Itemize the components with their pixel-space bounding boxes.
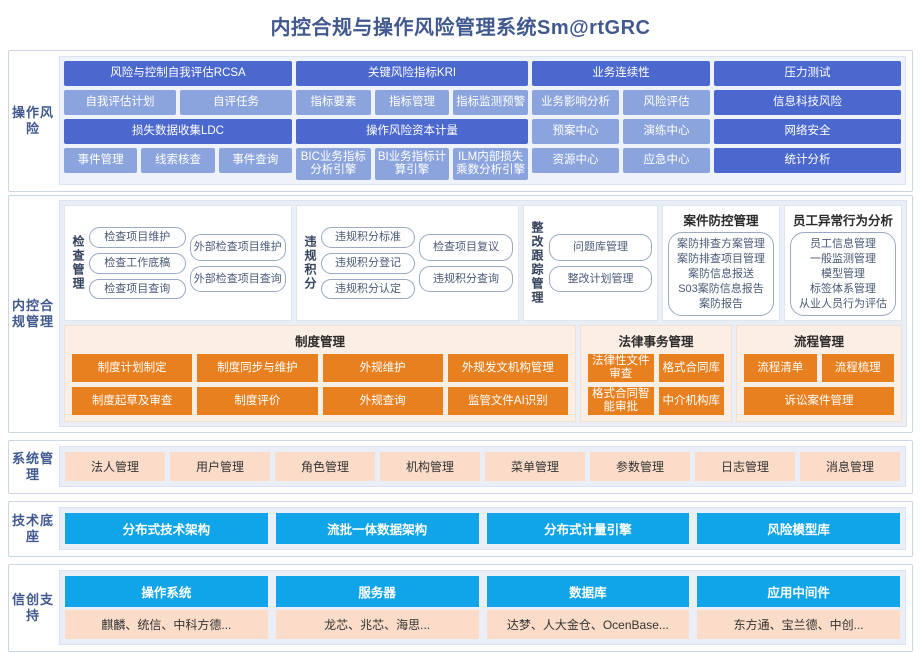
pill-external-inspection-query[interactable]: 外部检查项目查询	[190, 266, 287, 293]
item-s03-case-report: S03案防信息报告	[678, 282, 764, 296]
item-case-project-management: 案防排查项目管理	[677, 252, 765, 266]
btn-org-management[interactable]: 机构管理	[380, 452, 480, 481]
band-label-operation-risk: 操作风险	[9, 51, 57, 191]
btn-regulatory-doc-ai-recognition[interactable]: 监管文件AI识别	[448, 387, 568, 415]
btn-external-issuing-org-management[interactable]: 外规发文机构管理	[448, 354, 568, 382]
module-ilm-engine[interactable]: ILM内部损失乘数分析引擎	[453, 148, 528, 180]
btn-stream-batch-data-architecture[interactable]: 流批一体数据架构	[276, 513, 479, 544]
btn-distributed-tech-architecture[interactable]: 分布式技术架构	[65, 513, 268, 544]
module-indicator-monitoring-alert[interactable]: 指标监测预警	[453, 90, 528, 115]
band-body-xinchuang-support: 操作系统 麒麟、统信、中科方德... 服务器 龙芯、兆芯、海思... 数据库 达…	[57, 565, 912, 651]
btn-message-management[interactable]: 消息管理	[800, 452, 900, 481]
band-label-internal-control-compliance: 内控合规管理	[9, 196, 57, 432]
employee-behavior-items[interactable]: 员工信息管理 一般监测管理 模型管理 标签体系管理 从业人员行为评估	[790, 232, 896, 316]
panel-legal-affairs: 法律事务管理 法律性文件审查 格式合同智能审批 格式合同库 中介机构库	[580, 325, 732, 422]
btn-policy-sync-maintain[interactable]: 制度同步与维护	[197, 354, 317, 382]
case-prevention-items[interactable]: 案防排查方案管理 案防排查项目管理 案防信息报送 S03案防信息报告 案防报告	[668, 232, 774, 316]
xc-title-server[interactable]: 服务器	[276, 576, 479, 607]
item-tag-system-management: 标签体系管理	[810, 282, 876, 296]
xc-title-database[interactable]: 数据库	[487, 576, 690, 607]
band-label-system-management: 系统管理	[9, 441, 57, 493]
module-rcsa[interactable]: 风险与控制自我评估RCSA	[64, 61, 292, 86]
btn-log-management[interactable]: 日志管理	[695, 452, 795, 481]
btn-policy-draft-review[interactable]: 制度起草及审查	[72, 387, 192, 415]
module-risk-assessment[interactable]: 风险评估	[623, 90, 710, 115]
xc-group-server: 服务器 龙芯、兆芯、海思...	[276, 576, 479, 639]
xc-title-os[interactable]: 操作系统	[65, 576, 268, 607]
module-network-security[interactable]: 网络安全	[714, 119, 901, 144]
xc-group-middleware: 应用中间件 东方通、宝兰德、中创...	[697, 576, 900, 639]
column-bcm: 业务连续性 业务影响分析 风险评估 预案中心 演练中心 资源中心 应急中心	[532, 61, 710, 180]
pill-rectification-plan-management[interactable]: 整改计划管理	[549, 266, 652, 293]
btn-user-management[interactable]: 用户管理	[170, 452, 270, 481]
card-inspection-title: 检查管理	[70, 210, 86, 316]
pill-inspection-item-maintenance[interactable]: 检查项目维护	[89, 227, 186, 248]
xc-vendors-database: 达梦、人大金仓、OcenBase...	[487, 610, 690, 639]
column-other-risk: 压力测试 信息科技风险 网络安全 统计分析	[714, 61, 901, 180]
module-statistical-analysis[interactable]: 统计分析	[714, 148, 901, 173]
btn-external-rule-query[interactable]: 外规查询	[323, 387, 443, 415]
band-body-internal-control-compliance: 检查管理 检查项目维护 检查工作底稿 检查项目查询 外部检查项目维护 外部检查项…	[57, 196, 912, 432]
module-self-assessment-plan[interactable]: 自我评估计划	[64, 90, 176, 115]
module-drill-center[interactable]: 演练中心	[623, 119, 710, 144]
module-operational-risk-capital[interactable]: 操作风险资本计量	[296, 119, 528, 144]
pill-violation-confirmation[interactable]: 违规积分认定	[321, 279, 415, 300]
item-employee-info-management: 员工信息管理	[810, 237, 876, 251]
module-bi-engine[interactable]: BI业务指标计算引擎	[375, 148, 450, 180]
band-tech-foundation: 技术底座 分布式技术架构 流批一体数据架构 分布式计量引擎 风险模型库	[8, 501, 913, 557]
band-label-tech-foundation: 技术底座	[9, 502, 57, 556]
process-management-title: 流程管理	[744, 331, 894, 350]
card-violation-points: 违规积分 违规积分标准 违规积分登记 违规积分认定 检查项目复议 违规积分查询	[296, 205, 519, 321]
module-self-assessment-task[interactable]: 自评任务	[180, 90, 292, 115]
module-event-query[interactable]: 事件查询	[219, 148, 292, 173]
btn-external-rule-maintenance[interactable]: 外规维护	[323, 354, 443, 382]
btn-legal-doc-review[interactable]: 法律性文件审查	[588, 354, 654, 382]
card-employee-behavior: 员工异常行为分析 员工信息管理 一般监测管理 模型管理 标签体系管理 从业人员行…	[784, 205, 902, 321]
band-internal-control-compliance: 内控合规管理 检查管理 检查项目维护 检查工作底稿 检查项目查询 外部检查项目维…	[8, 195, 913, 433]
case-prevention-title: 案件防控管理	[668, 210, 774, 229]
band-system-management: 系统管理 法人管理 用户管理 角色管理 机构管理 菜单管理 参数管理 日志管理 …	[8, 440, 913, 494]
compliance-bottom-row: 制度管理 制度计划制定 制度起草及审查 制度同步与维护 制度评价	[64, 325, 902, 422]
module-indicator-management[interactable]: 指标管理	[375, 90, 450, 115]
btn-menu-management[interactable]: 菜单管理	[485, 452, 585, 481]
compliance-top-row: 检查管理 检查项目维护 检查工作底稿 检查项目查询 外部检查项目维护 外部检查项…	[64, 205, 902, 321]
card-rectification-tracking: 整改跟踪管理 问题库管理 整改计划管理	[523, 205, 658, 321]
btn-process-list[interactable]: 流程清单	[744, 354, 817, 382]
column-kri: 关键风险指标KRI 指标要素 指标管理 指标监测预警 操作风险资本计量 BIC业…	[296, 61, 528, 180]
card-case-prevention: 案件防控管理 案防排查方案管理 案防排查项目管理 案防信息报送 S03案防信息报…	[662, 205, 780, 321]
module-it-risk[interactable]: 信息科技风险	[714, 90, 901, 115]
btn-role-management[interactable]: 角色管理	[275, 452, 375, 481]
xc-vendors-os: 麒麟、统信、中科方德...	[65, 610, 268, 639]
module-stress-test[interactable]: 压力测试	[714, 61, 901, 86]
module-clue-verification[interactable]: 线索核查	[141, 148, 214, 173]
xc-group-os: 操作系统 麒麟、统信、中科方德...	[65, 576, 268, 639]
pill-issue-library-management[interactable]: 问题库管理	[549, 234, 652, 261]
module-ldc[interactable]: 损失数据收集LDC	[64, 119, 292, 144]
btn-litigation-case-management[interactable]: 诉讼案件管理	[744, 387, 894, 415]
xc-vendors-middleware: 东方通、宝兰德、中创...	[697, 610, 900, 639]
band-xinchuang-support: 信创支持 操作系统 麒麟、统信、中科方德... 服务器 龙芯、兆芯、海思... …	[8, 564, 913, 652]
btn-risk-model-library[interactable]: 风险模型库	[697, 513, 900, 544]
band-body-system-management: 法人管理 用户管理 角色管理 机构管理 菜单管理 参数管理 日志管理 消息管理	[57, 441, 912, 493]
page-title: 内控合规与操作风险管理系统Sm@rtGRC	[0, 0, 921, 50]
module-resource-center[interactable]: 资源中心	[532, 148, 619, 173]
band-label-xinchuang-support: 信创支持	[9, 565, 57, 651]
module-bic-engine[interactable]: BIC业务指标分析引擎	[296, 148, 371, 180]
item-case-report: 案防报告	[699, 297, 743, 311]
btn-policy-evaluation[interactable]: 制度评价	[197, 387, 317, 415]
pill-violation-points-query[interactable]: 违规积分查询	[419, 266, 513, 293]
panel-policy-management: 制度管理 制度计划制定 制度起草及审查 制度同步与维护 制度评价	[64, 325, 576, 422]
band-body-operation-risk: 风险与控制自我评估RCSA 自我评估计划 自评任务 损失数据收集LDC 事件管理…	[57, 51, 912, 191]
btn-intermediary-org-library[interactable]: 中介机构库	[659, 387, 725, 415]
module-indicator-elements[interactable]: 指标要素	[296, 90, 371, 115]
btn-parameter-management[interactable]: 参数管理	[590, 452, 690, 481]
item-case-plan-management: 案防排查方案管理	[677, 237, 765, 251]
pill-external-inspection-maintenance[interactable]: 外部检查项目维护	[190, 234, 287, 261]
module-emergency-center[interactable]: 应急中心	[623, 148, 710, 173]
pill-inspection-item-review[interactable]: 检查项目复议	[419, 234, 513, 261]
module-business-continuity[interactable]: 业务连续性	[532, 61, 710, 86]
pill-violation-standard[interactable]: 违规积分标准	[321, 227, 415, 248]
pill-violation-registration[interactable]: 违规积分登记	[321, 253, 415, 274]
btn-process-sorting[interactable]: 流程梳理	[822, 354, 895, 382]
policy-management-title: 制度管理	[72, 331, 568, 350]
btn-standard-contract-approval[interactable]: 格式合同智能审批	[588, 387, 654, 415]
module-business-impact-analysis[interactable]: 业务影响分析	[532, 90, 619, 115]
module-plan-center[interactable]: 预案中心	[532, 119, 619, 144]
item-case-info-submission: 案防信息报送	[688, 267, 754, 281]
module-kri[interactable]: 关键风险指标KRI	[296, 61, 528, 86]
btn-standard-contract-library[interactable]: 格式合同库	[659, 354, 725, 382]
column-rcsa: 风险与控制自我评估RCSA 自我评估计划 自评任务 损失数据收集LDC 事件管理…	[64, 61, 292, 180]
btn-policy-plan[interactable]: 制度计划制定	[72, 354, 192, 382]
card-violation-title: 违规积分	[302, 210, 318, 316]
xc-title-middleware[interactable]: 应用中间件	[697, 576, 900, 607]
xc-group-database: 数据库 达梦、人大金仓、OcenBase...	[487, 576, 690, 639]
btn-legal-entity-management[interactable]: 法人管理	[65, 452, 165, 481]
card-inspection-management: 检查管理 检查项目维护 检查工作底稿 检查项目查询 外部检查项目维护 外部检查项…	[64, 205, 292, 321]
card-rectification-title: 整改跟踪管理	[529, 210, 545, 316]
module-event-management[interactable]: 事件管理	[64, 148, 137, 173]
band-operation-risk: 操作风险 风险与控制自我评估RCSA 自我评估计划 自评任务 损失数据收集LDC…	[8, 50, 913, 192]
panel-process-management: 流程管理 流程清单 流程梳理 诉讼案件管理	[736, 325, 902, 422]
system-architecture-diagram: 内控合规与操作风险管理系统Sm@rtGRC 操作风险 风险与控制自我评估RCSA…	[0, 0, 921, 640]
item-general-monitoring: 一般监测管理	[810, 252, 876, 266]
employee-behavior-title: 员工异常行为分析	[790, 210, 896, 229]
legal-affairs-title: 法律事务管理	[588, 331, 724, 350]
btn-distributed-measurement-engine[interactable]: 分布式计量引擎	[487, 513, 690, 544]
item-model-management: 模型管理	[821, 267, 865, 281]
pill-inspection-workpaper[interactable]: 检查工作底稿	[89, 253, 186, 274]
item-practitioner-behavior-assessment: 从业人员行为评估	[799, 297, 887, 311]
xc-vendors-server: 龙芯、兆芯、海思...	[276, 610, 479, 639]
pill-inspection-item-query[interactable]: 检查项目查询	[89, 279, 186, 300]
band-body-tech-foundation: 分布式技术架构 流批一体数据架构 分布式计量引擎 风险模型库	[57, 502, 912, 556]
